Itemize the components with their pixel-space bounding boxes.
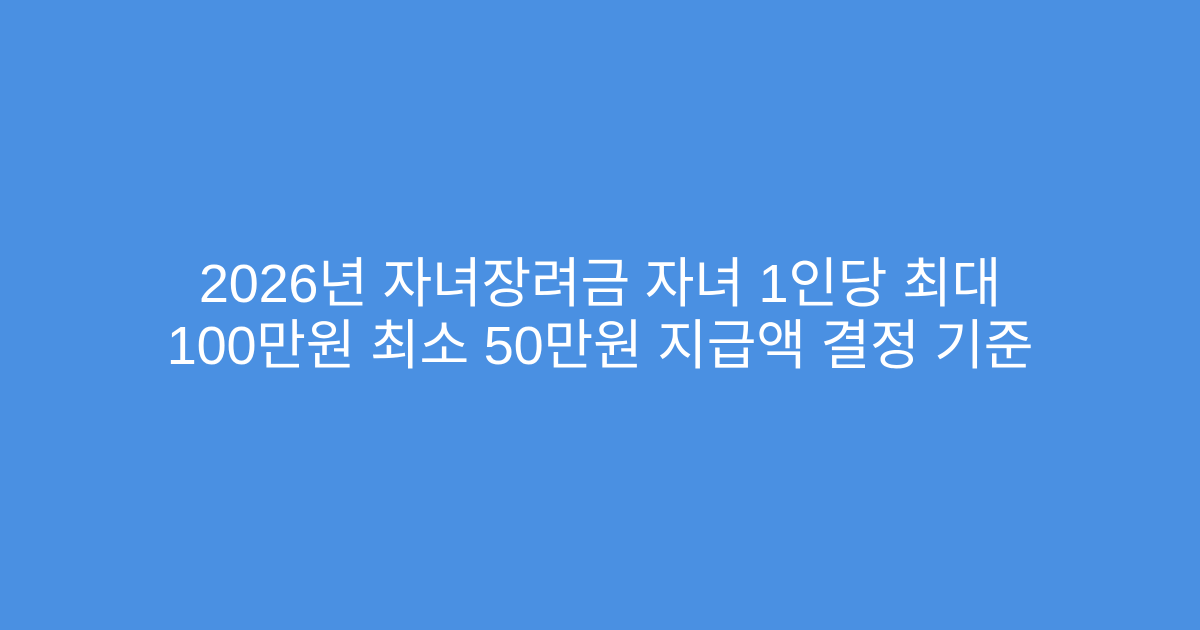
card-content: 2026년 자녀장려금 자녀 1인당 최대 100만원 최소 50만원 지급액 … <box>56 253 1144 377</box>
thumbnail-card: 2026년 자녀장려금 자녀 1인당 최대 100만원 최소 50만원 지급액 … <box>0 0 1200 630</box>
card-title: 2026년 자녀장려금 자녀 1인당 최대 100만원 최소 50만원 지급액 … <box>56 253 1144 377</box>
